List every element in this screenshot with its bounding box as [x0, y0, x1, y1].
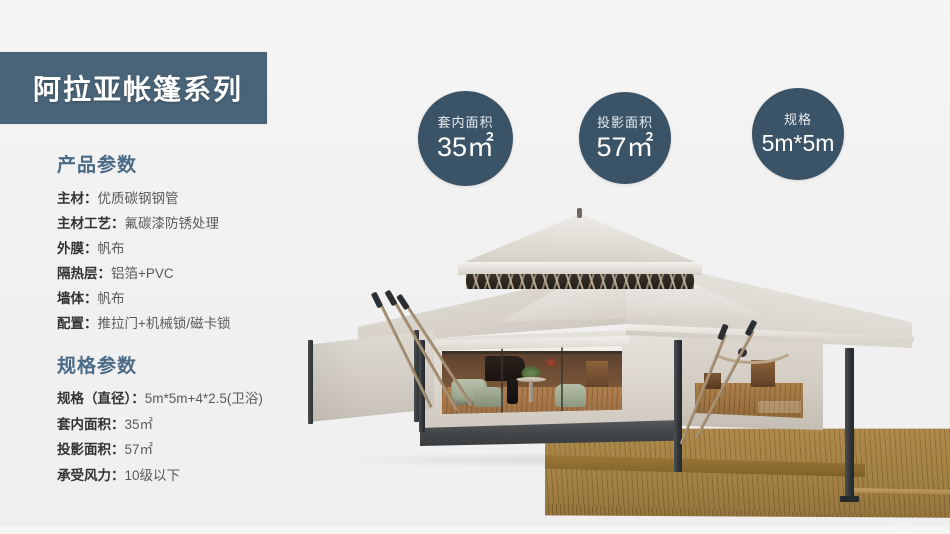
- spec-value: 铝箔+PVC: [111, 266, 174, 281]
- spec-value: 57㎡: [125, 442, 154, 457]
- spec-label: 规格（直径）：: [57, 391, 145, 406]
- interior-armchair-left-2: [474, 387, 503, 407]
- spec-row: 投影面积：57㎡: [0, 437, 330, 463]
- spec-params-heading: 规格参数: [0, 351, 330, 378]
- spec-row: 外膜：帆布: [0, 236, 330, 261]
- spec-label: 承受风力：: [57, 468, 125, 483]
- roof-vent-gap: [466, 274, 694, 289]
- spec-row: 套内面积：35㎡: [0, 412, 330, 438]
- spec-row: 配置：推拉门+机械锁/磁卡锁: [0, 311, 330, 336]
- spec-label: 主材工艺：: [57, 216, 125, 231]
- page-root: 阿拉亚帐篷系列 产品参数 主材：优质碳钢钢管 主材工艺：氟碳漆防锈处理 外膜：帆…: [0, 0, 950, 534]
- stat-value: 35㎡: [437, 134, 494, 161]
- stat-unit: ㎡: [467, 132, 494, 162]
- title-banner: 阿拉亚帐篷系列: [0, 52, 267, 124]
- spec-label: 主材：: [57, 191, 98, 206]
- interior-cabinet: [586, 361, 608, 387]
- spec-value: 10级以下: [125, 468, 181, 483]
- spec-params-list: 规格（直径）：5m*5m+4*2.5(卫浴) 套内面积：35㎡ 投影面积：57㎡…: [0, 386, 330, 488]
- column-base-plate: [840, 496, 859, 502]
- spec-params-group: 规格参数 规格（直径）：5m*5m+4*2.5(卫浴) 套内面积：35㎡ 投影面…: [0, 351, 330, 488]
- guy-rope-anchor: [371, 291, 383, 308]
- stat-number: 57: [596, 132, 626, 162]
- spec-value: 帆布: [98, 241, 125, 256]
- spec-label: 墙体：: [57, 291, 98, 306]
- tent-render-image: 禧利篷房 SIMPLE TENT: [300, 230, 950, 530]
- side-wall-post-left: [308, 340, 313, 424]
- spec-value: 优质碳钢钢管: [98, 191, 179, 206]
- stat-value: 5m*5m: [762, 132, 835, 155]
- stat-caption: 套内面积: [437, 116, 493, 129]
- spec-row: 规格（直径）：5m*5m+4*2.5(卫浴): [0, 386, 330, 412]
- stat-circle-interior-area: 套内面积 35㎡: [418, 91, 513, 186]
- steel-column-middle: [674, 340, 682, 472]
- specs-column: 产品参数 主材：优质碳钢钢管 主材工艺：氟碳漆防锈处理 外膜：帆布 隔热层：铝箔…: [0, 150, 330, 488]
- interior-floor-lamp: [507, 379, 518, 403]
- stat-caption: 规格: [784, 113, 812, 126]
- spec-row: 主材工艺：氟碳漆防锈处理: [0, 211, 330, 236]
- stat-number: 5m*5m: [762, 130, 835, 156]
- steel-column-deck-near: [845, 348, 854, 498]
- product-params-list: 主材：优质碳钢钢管 主材工艺：氟碳漆防锈处理 外膜：帆布 隔热层：铝箔+PVC …: [0, 186, 330, 336]
- background-top-strip: [0, 0, 950, 6]
- page-title: 阿拉亚帐篷系列: [0, 68, 243, 108]
- spec-value: 推拉门+机械锁/磁卡锁: [98, 316, 231, 331]
- window-mullion: [561, 342, 563, 414]
- window-mullion: [501, 342, 503, 414]
- stat-value: 57㎡: [596, 134, 653, 161]
- roof-truss-structure: [466, 274, 694, 289]
- spec-label: 套内面积：: [57, 417, 125, 432]
- spec-value: 帆布: [98, 291, 125, 306]
- stat-unit: ㎡: [627, 132, 654, 162]
- spec-label: 外膜：: [57, 241, 98, 256]
- product-params-group: 产品参数 主材：优质碳钢钢管 主材工艺：氟碳漆防锈处理 外膜：帆布 隔热层：铝箔…: [0, 150, 330, 336]
- stat-circle-projected-area: 投影面积 57㎡: [579, 92, 671, 184]
- interior-table-leg: [529, 381, 534, 403]
- spec-row: 墙体：帆布: [0, 286, 330, 311]
- spec-row: 隔热层：铝箔+PVC: [0, 261, 330, 286]
- spec-label: 配置：: [57, 316, 98, 331]
- stat-caption: 投影面积: [597, 116, 653, 129]
- stat-circle-specification: 规格 5m*5m: [752, 88, 844, 180]
- stat-number: 35: [437, 132, 467, 162]
- product-params-heading: 产品参数: [0, 150, 330, 177]
- spec-label: 投影面积：: [57, 442, 125, 457]
- roof-finial: [577, 208, 582, 218]
- spec-row: 承受风力：10级以下: [0, 463, 330, 489]
- spec-value: 35㎡: [125, 417, 154, 432]
- guy-rope-anchor: [384, 290, 397, 307]
- interior-rug-right: [758, 401, 801, 413]
- spec-value: 5m*5m+4*2.5(卫浴): [145, 391, 263, 406]
- spec-label: 隔热层：: [57, 266, 111, 281]
- window-transom: [442, 351, 622, 354]
- spec-row: 主材：优质碳钢钢管: [0, 186, 330, 211]
- spec-value: 氟碳漆防锈处理: [125, 216, 220, 231]
